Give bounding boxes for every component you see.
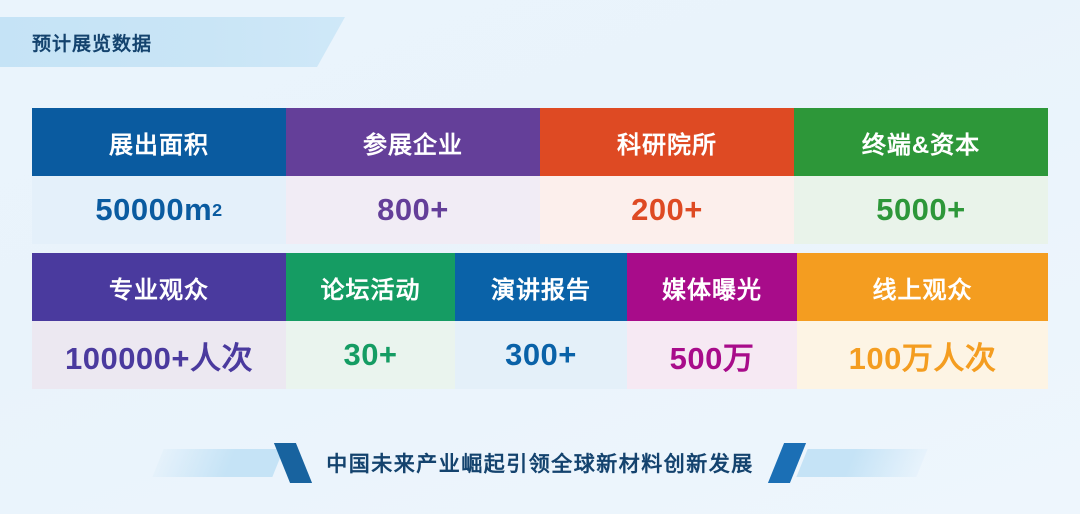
stat-label: 专业观众 — [32, 253, 286, 321]
stat-label: 参展企业 — [286, 108, 540, 176]
stat-label: 论坛活动 — [286, 253, 455, 321]
stat-cell: 演讲报告300+ — [455, 253, 627, 389]
stat-label: 线上观众 — [797, 253, 1048, 321]
stat-value: 30+ — [286, 321, 455, 389]
stat-label: 演讲报告 — [455, 253, 627, 321]
stat-label: 媒体曝光 — [627, 253, 797, 321]
stat-value: 5000+ — [794, 176, 1048, 244]
stat-value: 200+ — [540, 176, 794, 244]
stat-value: 100000+人次 — [32, 321, 286, 389]
stat-value: 500万 — [627, 321, 797, 389]
stat-cell: 论坛活动30+ — [286, 253, 455, 389]
ribbon-band-right — [796, 449, 927, 477]
stat-cell: 终端&资本5000+ — [794, 108, 1048, 244]
ribbon-band-left — [153, 449, 284, 477]
stat-label: 科研院所 — [540, 108, 794, 176]
stats-row-2: 专业观众100000+人次论坛活动30+演讲报告300+媒体曝光500万线上观众… — [32, 253, 1048, 389]
stat-value: 300+ — [455, 321, 627, 389]
ribbon-slash-left-icon — [274, 443, 312, 483]
stats-table: 展出面积50000m2参展企业800+科研院所200+终端&资本5000+ 专业… — [32, 108, 1048, 389]
stat-cell: 参展企业800+ — [286, 108, 540, 244]
stat-cell: 科研院所200+ — [540, 108, 794, 244]
stat-cell: 展出面积50000m2 — [32, 108, 286, 244]
stat-cell: 线上观众100万人次 — [797, 253, 1048, 389]
stats-row-1: 展出面积50000m2参展企业800+科研院所200+终端&资本5000+ — [32, 108, 1048, 244]
stat-value-text: 50000m — [95, 192, 212, 228]
page-title: 预计展览数据 — [32, 29, 152, 56]
stat-cell: 媒体曝光500万 — [627, 253, 797, 389]
stat-cell: 专业观众100000+人次 — [32, 253, 286, 389]
stat-label: 终端&资本 — [794, 108, 1048, 176]
stat-value: 50000m2 — [32, 176, 286, 244]
footer-slogan: 中国未来产业崛起引领全球新材料创新发展 — [308, 448, 772, 478]
footer-ribbon: 中国未来产业崛起引领全球新材料创新发展 — [0, 440, 1080, 486]
stat-value: 100万人次 — [797, 321, 1048, 389]
stat-value: 800+ — [286, 176, 540, 244]
stat-label: 展出面积 — [32, 108, 286, 176]
header-banner: 预计展览数据 — [0, 17, 345, 67]
ribbon-slash-right-icon — [768, 443, 806, 483]
